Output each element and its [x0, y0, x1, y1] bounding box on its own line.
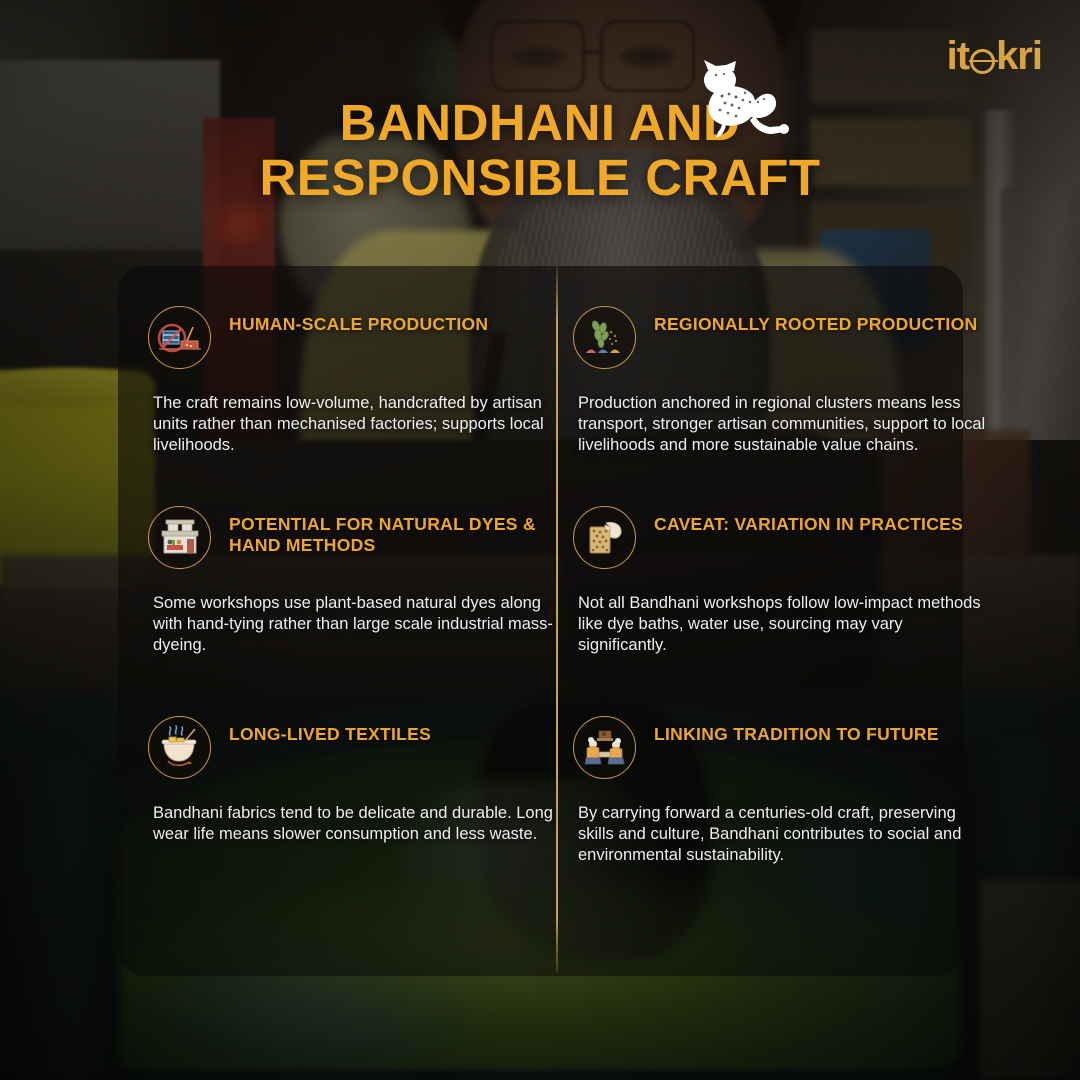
item-title: LONG-LIVED TEXTILES	[229, 716, 431, 745]
steaming-dye-pot-icon	[148, 716, 211, 779]
item-body: Some workshops use plant-based natural d…	[148, 593, 568, 656]
brand-logo-itokri[interactable]: it kri	[947, 36, 1042, 76]
page-title: BANDHANI AND RESPONSIBLE CRAFT	[0, 95, 1080, 205]
benefits-grid: HUMAN-SCALE PRODUCTION The craft remains…	[118, 266, 963, 976]
list-item-linking-tradition-to-future: LINKING TRADITION TO FUTURE By carrying …	[573, 716, 993, 866]
item-body: By carrying forward a centuries-old craf…	[573, 803, 993, 866]
item-body: Production anchored in regional clusters…	[573, 393, 993, 456]
item-title: REGIONALLY ROOTED PRODUCTION	[654, 306, 977, 335]
list-item-natural-dyes-hand-methods: POTENTIAL FOR NATURAL DYES & HAND METHOD…	[148, 506, 568, 656]
item-header: HUMAN-SCALE PRODUCTION	[148, 306, 568, 369]
item-header: LINKING TRADITION TO FUTURE	[573, 716, 993, 779]
list-item-caveat-variation-in-practices: CAVEAT: VARIATION IN PRACTICES Not all B…	[573, 506, 993, 656]
no-machine-icon	[148, 306, 211, 369]
logo-text-part-1: it	[947, 36, 969, 76]
item-title: HUMAN-SCALE PRODUCTION	[229, 306, 488, 335]
item-header: CAVEAT: VARIATION IN PRACTICES	[573, 506, 993, 569]
title-line-1: BANDHANI AND	[120, 95, 960, 150]
basket-icon	[970, 49, 995, 74]
list-item-regionally-rooted-production: REGIONALLY ROOTED PRODUCTION Production …	[573, 306, 993, 456]
item-body: Not all Bandhani workshops follow low-im…	[573, 593, 993, 656]
list-item-long-lived-textiles: LONG-LIVED TEXTILES Bandhani fabrics ten…	[148, 716, 568, 845]
two-artisans-icon	[573, 716, 636, 779]
title-line-2: RESPONSIBLE CRAFT	[120, 150, 960, 205]
list-item-human-scale-production: HUMAN-SCALE PRODUCTION The craft remains…	[148, 306, 568, 456]
item-header: LONG-LIVED TEXTILES	[148, 716, 568, 779]
cat-mascot-icon	[692, 58, 796, 140]
infographic-poster: it kri BANDHANI AND RESPONSIBLE CRAFT	[0, 0, 1080, 1080]
item-body: The craft remains low-volume, handcrafte…	[148, 393, 568, 456]
logo-text-part-2: kri	[996, 36, 1042, 76]
item-header: REGIONALLY ROOTED PRODUCTION	[573, 306, 993, 369]
hand-holding-fabric-icon	[573, 506, 636, 569]
plant-dye-sprouts-icon	[573, 306, 636, 369]
item-title: POTENTIAL FOR NATURAL DYES & HAND METHOD…	[229, 506, 568, 557]
item-body: Bandhani fabrics tend to be delicate and…	[148, 803, 568, 845]
item-header: POTENTIAL FOR NATURAL DYES & HAND METHOD…	[148, 506, 568, 569]
workshop-building-icon	[148, 506, 211, 569]
item-title: CAVEAT: VARIATION IN PRACTICES	[654, 506, 963, 535]
item-title: LINKING TRADITION TO FUTURE	[654, 716, 939, 745]
